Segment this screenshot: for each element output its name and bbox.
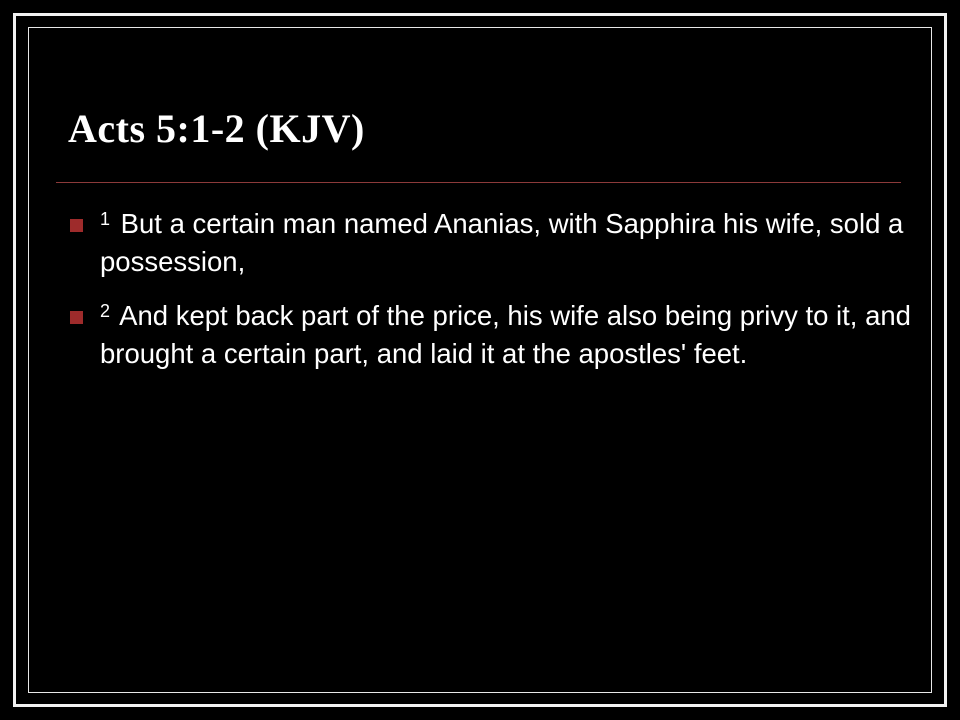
verse-text: And kept back part of the price, his wif… (100, 300, 911, 369)
page-title: Acts 5:1-2 (KJV) (68, 105, 888, 153)
square-bullet-icon (70, 311, 83, 324)
square-bullet-icon (70, 219, 83, 232)
list-item: 1 But a certain man named Ananias, with … (48, 205, 928, 281)
verse-list: 1 But a certain man named Ananias, with … (48, 205, 928, 389)
verse-number: 1 (100, 209, 113, 229)
slide: Acts 5:1-2 (KJV) 1 But a certain man nam… (0, 0, 960, 720)
title-divider (56, 182, 901, 183)
list-item: 2 And kept back part of the price, his w… (48, 297, 928, 373)
verse-number: 2 (100, 301, 113, 321)
slide-content: Acts 5:1-2 (KJV) 1 But a certain man nam… (28, 27, 932, 693)
verse-text: But a certain man named Ananias, with Sa… (100, 208, 903, 277)
